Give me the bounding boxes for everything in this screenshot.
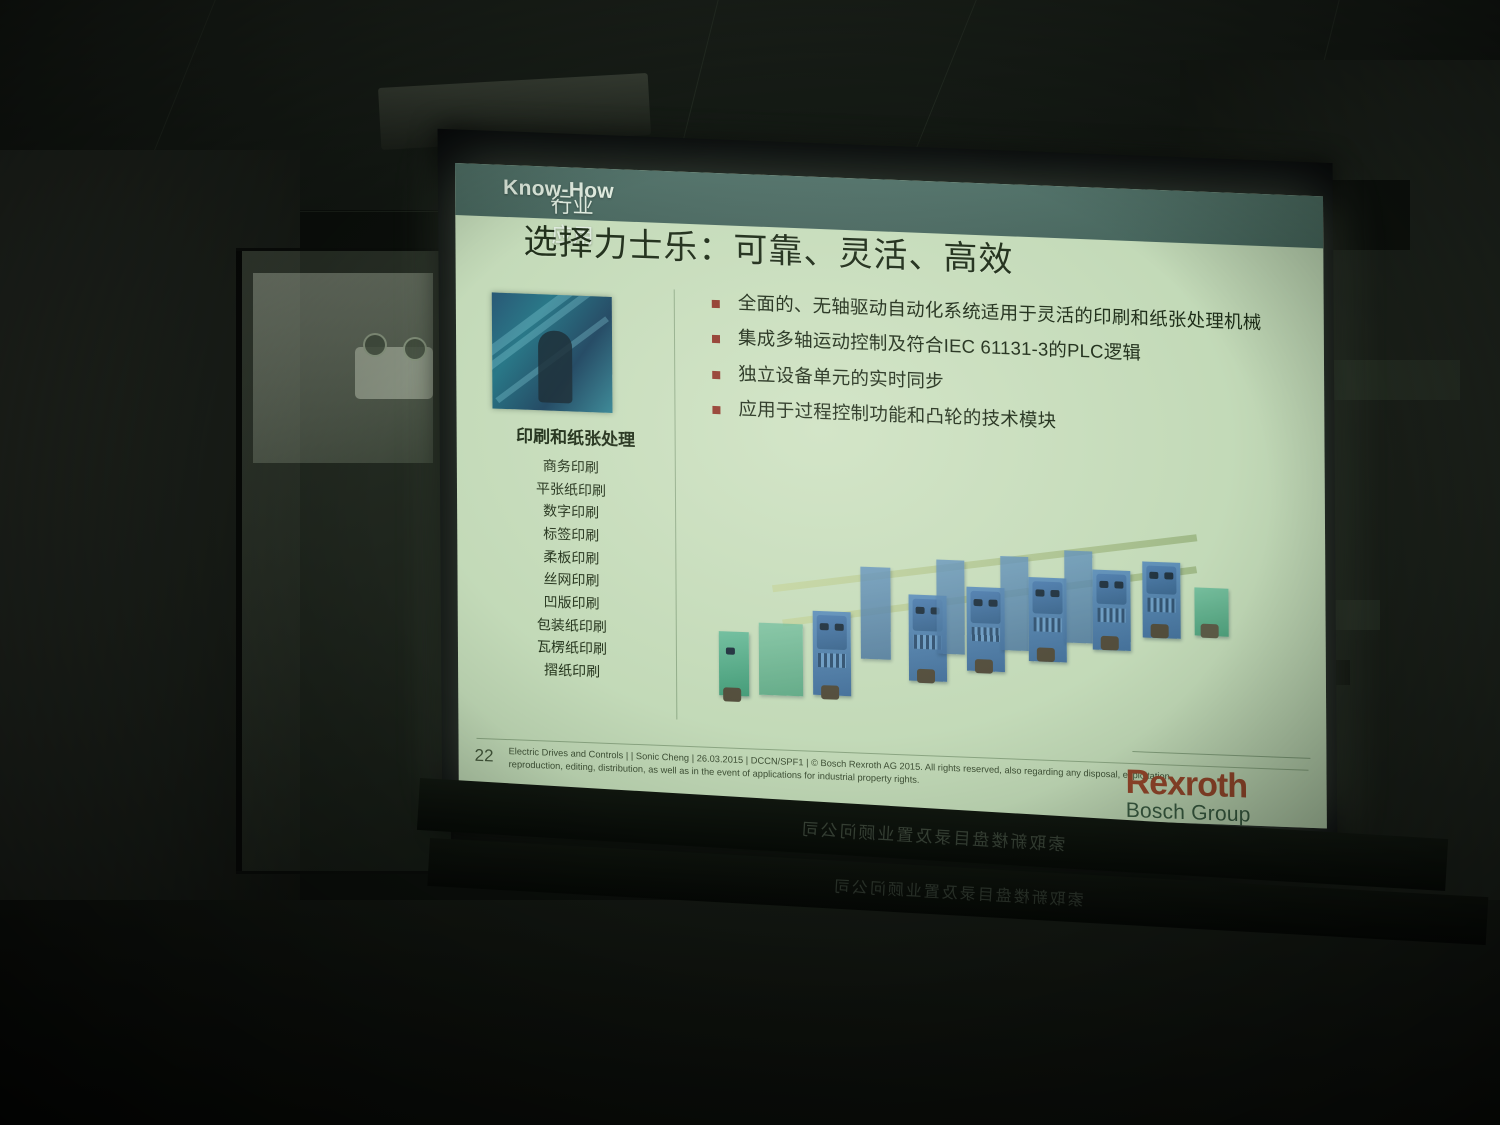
unit-foot [723, 687, 741, 702]
bullet-square-icon [712, 300, 720, 308]
reflected-banner-text: 索取新楼盘目录及置业顾问公司 [831, 873, 1084, 911]
unit-face [1096, 574, 1126, 605]
photo-person-silhouette [538, 330, 572, 403]
unit-eye-icon [1099, 581, 1108, 588]
bullet-square-icon [712, 335, 720, 343]
bullet-square-icon [712, 370, 720, 378]
logo-brand-text: Rexroth [1125, 757, 1310, 806]
presentation-slide: Know-How – 行业应用 选择力士乐：可靠、灵活、高效 印刷和纸张处理 商… [455, 163, 1327, 829]
door-frame [236, 251, 242, 871]
press-unit [1092, 569, 1130, 650]
floor [0, 900, 1500, 1125]
unit-eye-icon [1050, 590, 1059, 597]
press-unit [966, 587, 1005, 672]
press-unit [860, 567, 891, 660]
unit-grille [1147, 598, 1175, 613]
press-unit [813, 611, 852, 696]
press-unit [719, 631, 749, 696]
unit-eye-icon [1164, 572, 1173, 579]
unit-face [970, 591, 1000, 624]
unit-eye-icon [974, 599, 983, 606]
unit-foot [975, 659, 993, 674]
bullet-list: 全面的、无轴驱动自动化系统适用于灵活的印刷和纸张处理机械 集成多轴运动控制及符合… [708, 289, 1287, 452]
unit-foot [821, 685, 839, 700]
press-unit [1142, 561, 1180, 638]
slide-header-text: Know-How – 行业应用 [503, 176, 614, 204]
unit-foot [917, 669, 935, 684]
press-unit [1000, 556, 1029, 651]
unit-eye-icon [1035, 589, 1044, 596]
unit-eye-icon [1114, 581, 1123, 588]
press-unit [936, 560, 965, 655]
paper-web [772, 534, 1197, 592]
unit-eye-icon [820, 623, 829, 630]
unit-foot [1101, 636, 1119, 651]
unit-grille [818, 653, 846, 668]
printing-press-illustration [712, 525, 1273, 737]
press-unit [1064, 550, 1093, 643]
unit-eye-icon [726, 647, 735, 654]
unit-grille [1034, 617, 1062, 632]
rexroth-logo: Rexroth Bosch Group [1125, 757, 1310, 829]
printing-applications-list: 商务印刷 平张纸印刷 数字印刷 标签印刷 柔板印刷 丝网印刷 凹版印刷 包装纸印… [471, 452, 672, 686]
unit-foot [1151, 624, 1169, 639]
unit-eye-icon [1149, 572, 1158, 579]
unit-eye-icon [989, 600, 998, 607]
press-unit [1028, 577, 1067, 662]
press-delivery-unit [1194, 587, 1228, 636]
unit-grille [972, 627, 1000, 642]
unit-grille [1098, 608, 1126, 623]
unit-foot [1201, 624, 1219, 639]
bullet-square-icon [712, 406, 720, 414]
unit-eye-icon [835, 624, 844, 631]
page-number: 22 [475, 746, 494, 767]
unit-foot [1037, 647, 1055, 662]
unit-face [1032, 581, 1062, 614]
unit-eye-icon [916, 607, 925, 614]
meeting-room-scene: Know-How – 行业应用 选择力士乐：可靠、灵活、高效 印刷和纸张处理 商… [0, 0, 1500, 1125]
thumbnail-caption: 印刷和纸张处理 [481, 420, 671, 452]
unit-face [817, 615, 847, 650]
press-unit [759, 623, 803, 697]
industry-photo-thumbnail [492, 292, 613, 413]
reflected-banner-text: 索取新楼盘目录及置业顾问公司 [799, 814, 1066, 855]
sidebar-divider [674, 289, 678, 719]
unit-face [1146, 566, 1176, 595]
